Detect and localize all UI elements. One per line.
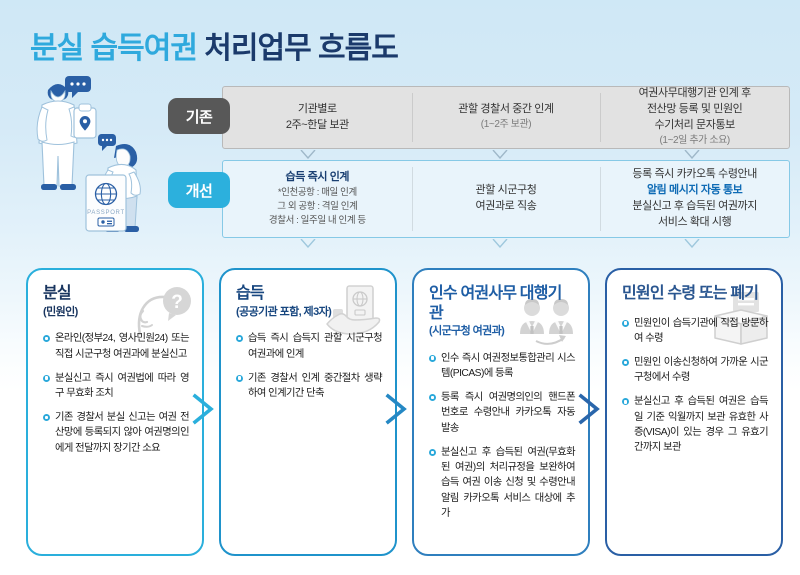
before-c2-l2: (1~2주 보관) <box>481 118 531 133</box>
card-found-subtitle: (공공기관 포함, 제3자) <box>236 306 382 320</box>
arrow-found-to-agency <box>383 392 413 426</box>
card-found-title: 습득 <box>236 284 382 304</box>
bullet-dot-icon <box>622 359 629 366</box>
before-c1-l2: 2주~한달 보관 <box>286 118 349 134</box>
list-item: 분실신고 후 습득된 여권은 습득일 기준 익월까지 보관 유효한 사증(VIS… <box>622 394 768 455</box>
bullet-text: 인수 즉시 여권정보통합관리 시스템(PICAS)에 등록 <box>441 351 575 381</box>
infographic-page: 분실 습득여권 처리업무 흐름도 <box>0 0 800 575</box>
people-illustration: PASSPORT <box>12 72 172 247</box>
notch-down-5 <box>492 239 508 248</box>
bullet-text: 민원인 이송신청하여 가까운 시군구청에서 수령 <box>634 355 768 385</box>
before-c3-l2: 전산망 등록 및 민원인 <box>647 102 742 118</box>
list-item: 인수 즉시 여권정보통합관리 시스템(PICAS)에 등록 <box>429 351 575 381</box>
after-c3-l4: 서비스 확대 시행 <box>658 215 731 231</box>
bullet-dot-icon <box>43 335 50 342</box>
arrow-agency-to-receive <box>576 392 606 426</box>
bullet-dot-icon <box>429 355 436 362</box>
bullet-dot-icon <box>236 335 243 342</box>
after-c3-l1: 등록 즉시 카카오톡 수령안내 <box>632 167 757 183</box>
list-item: 민원인 이송신청하여 가까운 시군구청에서 수령 <box>622 355 768 385</box>
label-before: 기존 <box>168 98 230 134</box>
comparison-row-before: 기관별로 2주~한달 보관 관할 경찰서 중간 인계 (1~2주 보관) 여권사… <box>222 86 790 149</box>
after-c2-l2-plain: 여권과로 <box>476 200 518 212</box>
notch-down-6 <box>684 239 700 248</box>
after-c3-l3: 분실신고 후 습득된 여권까지 <box>632 199 757 215</box>
after-cell-2: 관할 시군구청 여권과로 직송 <box>412 161 601 237</box>
after-c3-l1-emph: 카카오톡 수령안내 <box>677 168 757 180</box>
before-cell-2: 관할 경찰서 중간 인계 (1~2주 보관) <box>412 87 601 148</box>
list-item: 습득 즉시 습득지 관할 시군구청 여권과에 인계 <box>236 331 382 361</box>
card-agency-subtitle: (시군구청 여권과) <box>429 325 575 339</box>
before-c1-l1: 기관별로 <box>298 102 337 118</box>
card-receive-title: 민원인 수령 또는 폐기 <box>622 284 768 304</box>
after-c1-l3: 그 외 공항 : 격일 인계 <box>277 200 357 214</box>
notch-down-1 <box>300 150 316 159</box>
bullet-text: 기존 경찰서 인계 중간절차 생략하여 인계기간 단축 <box>248 371 382 401</box>
before-c2-l1: 관할 경찰서 중간 인계 <box>458 102 553 118</box>
before-c3-l3: 수기처리 문자통보 <box>654 118 734 134</box>
after-c2-l2: 여권과로 직송 <box>476 199 537 215</box>
page-title-highlight: 분실 습득여권 <box>30 32 197 65</box>
bullet-text: 등록 즉시 여권명의인의 핸드폰 번호로 수령안내 카카오톡 자동 발송 <box>441 390 575 436</box>
bullet-dot-icon <box>43 375 50 382</box>
list-item: 민원인이 습득기관에 직접 방문하여 수령 <box>622 316 768 346</box>
after-c1-l4: 경찰서 : 일주일 내 인계 등 <box>269 214 366 228</box>
after-cell-1: 습득 즉시 인계 *인천공항 : 매일 인계 그 외 공항 : 격일 인계 경찰… <box>223 161 412 237</box>
bullet-text: 온라인(정부24, 영사민원24) 또는 직접 시군구청 여권과에 분실신고 <box>55 331 189 361</box>
bullet-text: 기존 경찰서 분실 신고는 여권 전산망에 등록되지 않아 여권명의인에게 전달… <box>55 410 189 456</box>
bullet-dot-icon <box>43 414 50 421</box>
card-receive-bullets: 민원인이 습득기관에 직접 방문하여 수령 민원인 이송신청하여 가까운 시군구… <box>622 316 768 456</box>
notch-down-3 <box>684 150 700 159</box>
bullet-dot-icon <box>429 449 436 456</box>
after-c3-l1-plain: 등록 즉시 <box>632 168 676 180</box>
list-item: 등록 즉시 여권명의인의 핸드폰 번호로 수령안내 카카오톡 자동 발송 <box>429 390 575 436</box>
after-c1-l2: *인천공항 : 매일 인계 <box>278 186 357 200</box>
person-with-phone-illustration <box>37 76 96 190</box>
page-title-rest: 처리업무 흐름도 <box>204 32 398 65</box>
passport-label: PASSPORT <box>87 210 125 216</box>
before-cell-3: 여권사무대행기관 인계 후 전산망 등록 및 민원인 수기처리 문자통보 (1~… <box>600 87 789 148</box>
bullet-text: 분실신고 후 습득된 여권(무효화된 여권)의 처리규정을 보완하여 습득 여권… <box>441 445 575 521</box>
card-agency-title: 인수 여권사무 대행기관 <box>429 284 575 323</box>
after-c2-l1: 관할 시군구청 <box>476 183 537 199</box>
notch-down-4 <box>300 239 316 248</box>
bullet-text: 습득 즉시 습득지 관할 시군구청 여권과에 인계 <box>248 331 382 361</box>
card-agency-bullets: 인수 즉시 여권정보통합관리 시스템(PICAS)에 등록 등록 즉시 여권명의… <box>429 351 575 521</box>
notch-down-2 <box>492 150 508 159</box>
card-loss-title: 분실 <box>43 284 189 304</box>
bullet-dot-icon <box>236 375 243 382</box>
before-c3-l4: (1~2일 추가 소요) <box>659 134 729 149</box>
page-title: 분실 습득여권 처리업무 흐름도 <box>30 23 398 67</box>
bullet-text: 분실신고 즉시 여권법에 따라 영구 무효화 조치 <box>55 371 189 401</box>
bullet-dot-icon <box>622 320 629 327</box>
list-item: 기존 경찰서 분실 신고는 여권 전산망에 등록되지 않아 여권명의인에게 전달… <box>43 410 189 456</box>
bullet-dot-icon <box>429 394 436 401</box>
list-item: 분실신고 즉시 여권법에 따라 영구 무효화 조치 <box>43 371 189 401</box>
list-item: 온라인(정부24, 영사민원24) 또는 직접 시군구청 여권과에 분실신고 <box>43 331 189 361</box>
bullet-dot-icon <box>622 398 629 405</box>
person-with-passport-illustration: PASSPORT <box>86 134 140 232</box>
list-item: 기존 경찰서 인계 중간절차 생략하여 인계기간 단축 <box>236 371 382 401</box>
card-loss: ? 분실 (민원인) 온라인(정부24, 영사민원24) 또는 직접 시군구청 … <box>26 268 204 556</box>
comparison-row-after: 습득 즉시 인계 *인천공항 : 매일 인계 그 외 공항 : 격일 인계 경찰… <box>222 160 790 238</box>
card-found: 습득 (공공기관 포함, 제3자) 습득 즉시 습득지 관할 시군구청 여권과에… <box>219 268 397 556</box>
arrow-loss-to-found <box>190 392 220 426</box>
card-found-bullets: 습득 즉시 습득지 관할 시군구청 여권과에 인계 기존 경찰서 인계 중간절차… <box>236 331 382 401</box>
before-c3-l1: 여권사무대행기관 인계 후 <box>639 86 751 102</box>
card-loss-bullets: 온라인(정부24, 영사민원24) 또는 직접 시군구청 여권과에 분실신고 분… <box>43 331 189 456</box>
after-cell-3: 등록 즉시 카카오톡 수령안내 알림 메시지 자동 통보 분실신고 후 습득된 … <box>600 161 789 237</box>
card-receive: 민원인 수령 또는 폐기 민원인이 습득기관에 직접 방문하여 수령 민원인 이… <box>605 268 783 556</box>
card-agency: 인수 여권사무 대행기관 (시군구청 여권과) 인수 즉시 여권정보통합관리 시… <box>412 268 590 556</box>
after-c2-l2-emph: 직송 <box>517 200 536 212</box>
label-after: 개선 <box>168 172 230 208</box>
bullet-text: 민원인이 습득기관에 직접 방문하여 수령 <box>634 316 768 346</box>
list-item: 분실신고 후 습득된 여권(무효화된 여권)의 처리규정을 보완하여 습득 여권… <box>429 445 575 521</box>
after-c3-l2: 알림 메시지 자동 통보 <box>647 183 742 199</box>
card-loss-subtitle: (민원인) <box>43 306 189 320</box>
after-c1-l1: 습득 즉시 인계 <box>286 170 350 186</box>
bullet-text: 분실신고 후 습득된 여권은 습득일 기준 익월까지 보관 유효한 사증(VIS… <box>634 394 768 455</box>
before-cell-1: 기관별로 2주~한달 보관 <box>223 87 412 148</box>
